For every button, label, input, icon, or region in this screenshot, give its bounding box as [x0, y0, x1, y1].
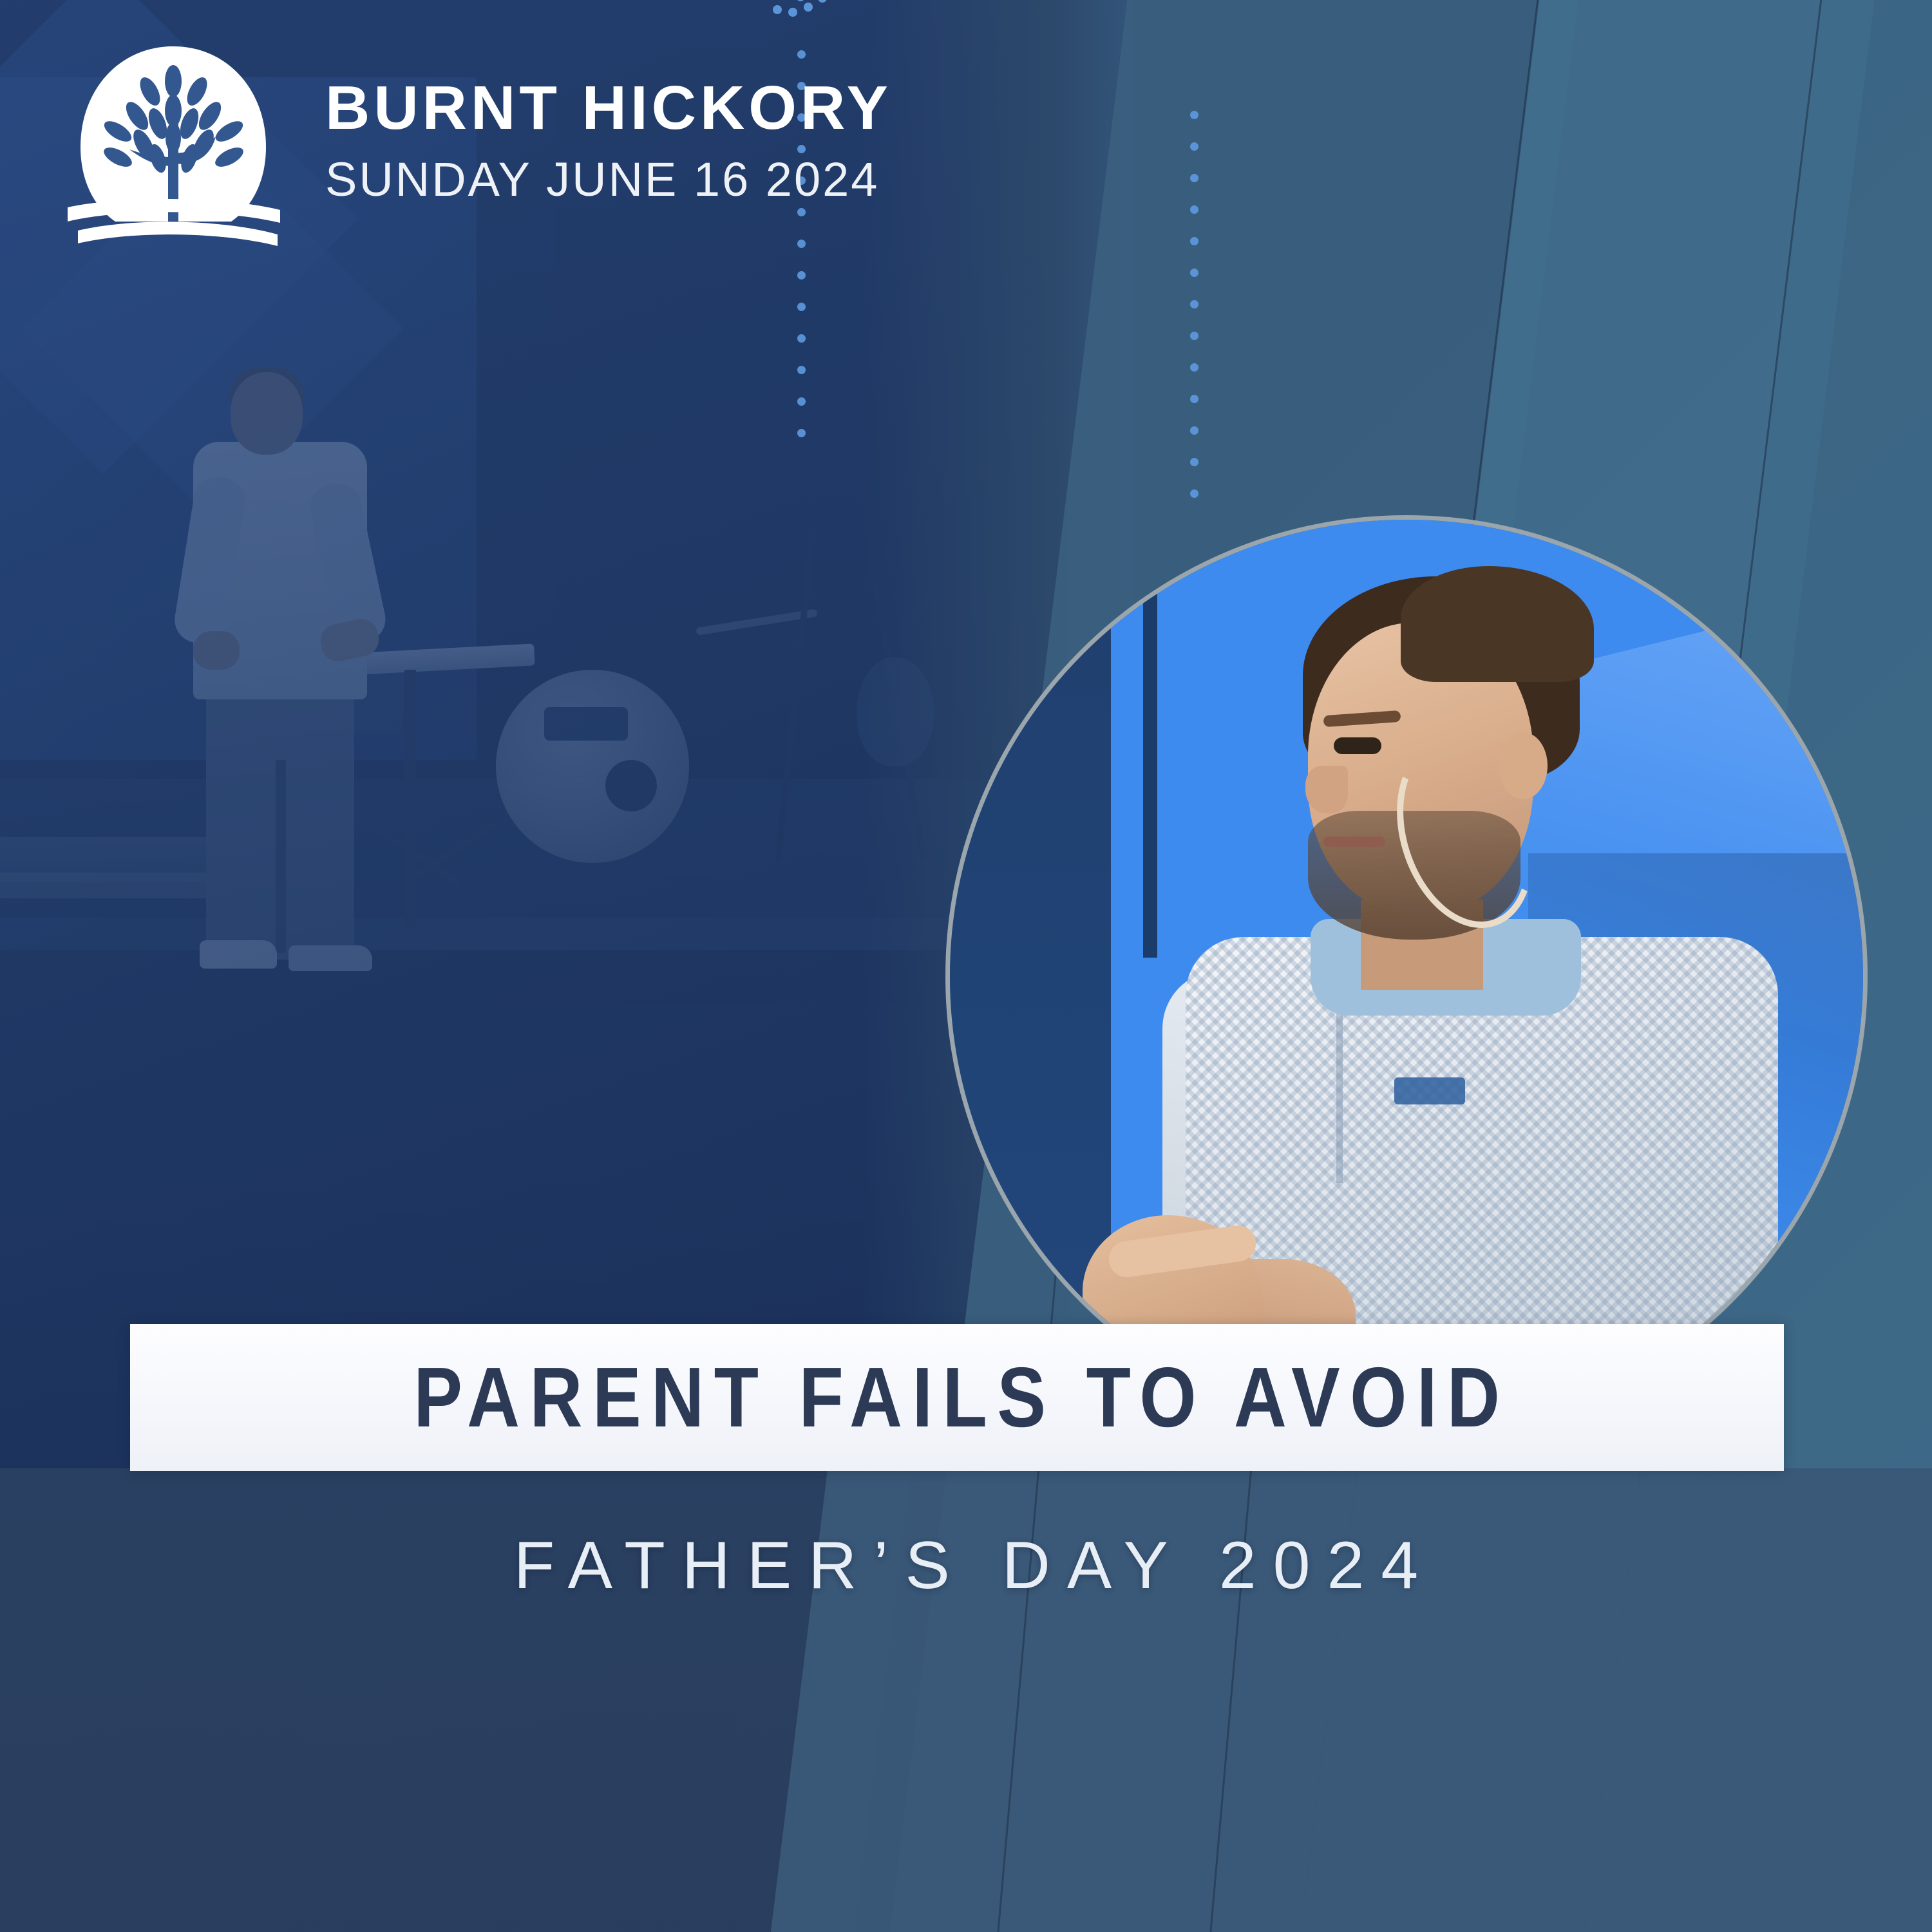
portrait-mouth — [1323, 837, 1385, 847]
sermon-subtitle: FATHER’S DAY 2024 — [0, 1528, 1932, 1604]
portrait-wall-stripe — [1143, 520, 1157, 958]
portrait-nose — [1305, 766, 1348, 813]
service-date: SUNDAY JUNE 16 2024 — [325, 156, 892, 204]
portrait-hair-top — [1401, 566, 1594, 682]
portrait-eye — [1334, 737, 1381, 754]
church-name: BURNT HICKORY — [325, 77, 892, 139]
portrait-image — [950, 520, 1863, 1433]
sermon-title: PARENT FAILS TO AVOID — [404, 1355, 1510, 1440]
portrait-shirt-logo — [1394, 1077, 1465, 1104]
speaker-portrait-avatar — [945, 515, 1868, 1437]
burnt-hickory-tree-logo-icon — [61, 44, 285, 247]
dot-cluster-decor — [759, 0, 849, 30]
sermon-graphic-canvas: BURNT HICKORY SUNDAY JUNE 16 2024 — [0, 0, 1932, 1932]
dotted-line-right — [1190, 111, 1198, 521]
header-text-block: BURNT HICKORY SUNDAY JUNE 16 2024 — [325, 77, 892, 204]
sermon-title-band: PARENT FAILS TO AVOID — [130, 1324, 1784, 1471]
